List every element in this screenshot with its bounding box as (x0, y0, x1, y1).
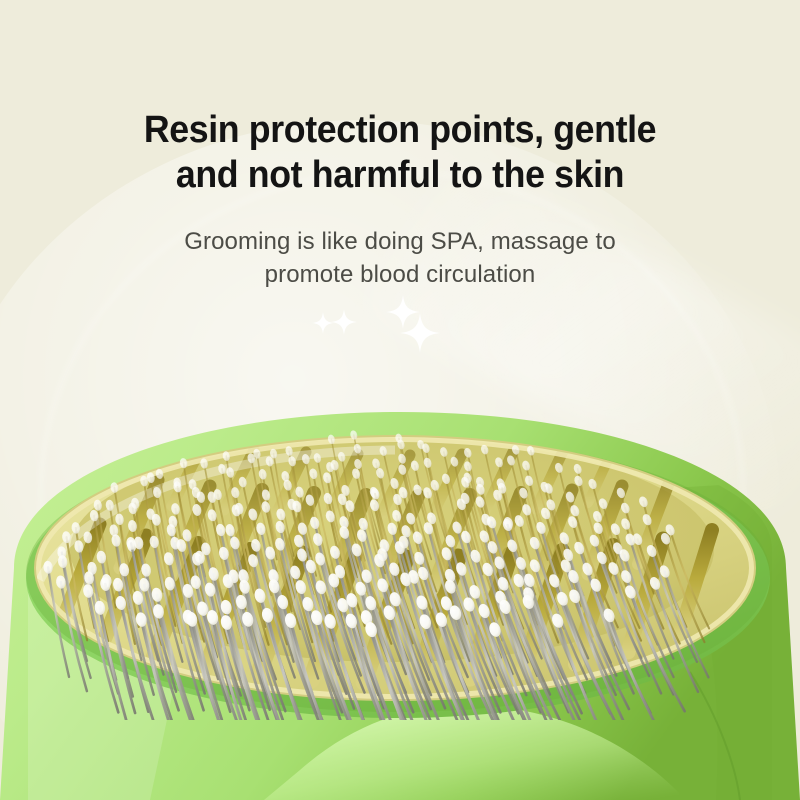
yellow-slotted-plate (35, 436, 755, 700)
headline-text: Resin protection points, gentle and not … (24, 108, 776, 198)
pet-grooming-brush (0, 300, 800, 800)
subtitle-text: Grooming is like doing SPA, massage to p… (0, 225, 800, 291)
product-banner: Resin protection points, gentle and not … (0, 0, 800, 800)
